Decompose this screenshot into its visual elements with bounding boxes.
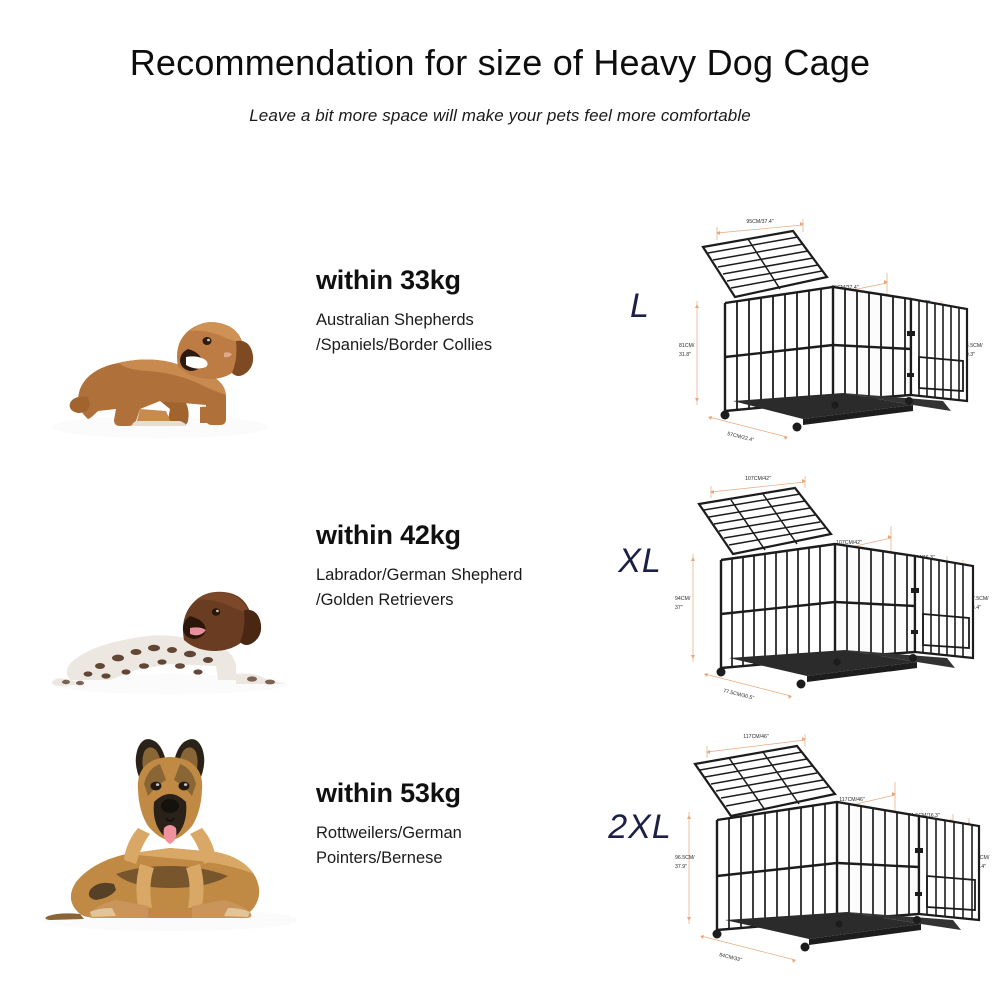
size-text-cell: within 53kg Rottweilers/German Pointers/… <box>316 778 586 871</box>
dim-width-bottom: 57CM/22.4" <box>727 431 755 443</box>
cage-body <box>725 287 911 411</box>
weight-label: within 53kg <box>316 778 586 809</box>
dim-height-left: 96.5CM/ <box>675 855 695 861</box>
dog-photo-cell <box>20 700 320 950</box>
breed-line: /Golden Retrievers <box>316 588 586 613</box>
cage-body <box>721 544 915 668</box>
dim-height-left-inch: 37" <box>675 605 683 611</box>
breed-list: Labrador/German Shepherd /Golden Retriev… <box>316 563 586 613</box>
dim-lid-width: 107CM/42" <box>745 476 771 482</box>
size-row: within 53kg Rottweilers/German Pointers/… <box>0 700 1000 950</box>
dog-photo-cell <box>40 215 320 465</box>
weight-label: within 33kg <box>316 265 586 296</box>
dim-height-left-inch: 37.9" <box>675 864 687 870</box>
cage-diagram-cell: 95CM/37.4" 95CM/37.4" 41.5CM/16.3" 81CM/… <box>675 205 995 460</box>
size-row: within 42kg Labrador/German Shepherd /Go… <box>0 470 1000 720</box>
header: Recommendation for size of Heavy Dog Cag… <box>0 0 1000 126</box>
size-row: within 33kg Australian Shepherds /Spanie… <box>0 215 1000 465</box>
breed-list: Australian Shepherds /Spaniels/Border Co… <box>316 308 586 358</box>
dog-lying-german-shepherd-icon <box>20 724 320 944</box>
cage-door-open <box>907 299 967 401</box>
dim-lid-width: 117CM/46" <box>743 734 769 740</box>
page-subtitle: Leave a bit more space will make your pe… <box>0 106 1000 126</box>
dim-height-left: 94CM/ <box>675 596 691 602</box>
breed-line: Labrador/German Shepherd <box>316 563 586 588</box>
size-code: L <box>630 287 650 325</box>
heavy-duty-dog-cage-icon: 117CM/46" 117CM/46" 41.5CM/16.3" 96.5CM/… <box>675 720 995 975</box>
breed-list: Rottweilers/German Pointers/Bernese <box>316 821 586 871</box>
size-code: 2XL <box>608 808 672 846</box>
dog-lying-redbone-coonhound-icon <box>40 279 310 459</box>
size-code: XL <box>618 542 662 580</box>
dim-height-left: 81CM/ <box>679 343 695 349</box>
breed-line: Australian Shepherds <box>316 308 586 333</box>
size-text-cell: within 33kg Australian Shepherds /Spanie… <box>316 265 586 358</box>
cage-lid <box>703 231 827 297</box>
cage-diagram-cell: 107CM/42" 107CM/42" 41.5CM/16.3" 94CM/ 3… <box>675 460 995 715</box>
cage-lid <box>699 488 831 554</box>
dim-width-bottom: 84CM/33" <box>719 952 743 963</box>
size-text-cell: within 42kg Labrador/German Shepherd /Go… <box>316 520 586 613</box>
dim-lid-width: 95CM/37.4" <box>746 219 773 225</box>
heavy-duty-dog-cage-icon: 95CM/37.4" 95CM/37.4" 41.5CM/16.3" 81CM/… <box>675 205 995 460</box>
dog-lying-german-shorthaired-pointer-icon <box>40 534 310 714</box>
infographic-page: Recommendation for size of Heavy Dog Cag… <box>0 0 1000 1000</box>
dog-photo-cell <box>40 470 320 720</box>
cage-door-open <box>911 556 973 658</box>
weight-label: within 42kg <box>316 520 586 551</box>
cage-door-open <box>915 816 979 920</box>
breed-line: Rottweilers/German <box>316 821 586 846</box>
page-title: Recommendation for size of Heavy Dog Cag… <box>0 42 1000 84</box>
heavy-duty-dog-cage-icon: 107CM/42" 107CM/42" 41.5CM/16.3" 94CM/ 3… <box>675 460 995 715</box>
cage-body <box>717 802 919 930</box>
cage-diagram-cell: 117CM/46" 117CM/46" 41.5CM/16.3" 96.5CM/… <box>675 720 995 975</box>
breed-line: /Spaniels/Border Collies <box>316 333 586 358</box>
dim-height-left-inch: 31.8" <box>679 352 691 358</box>
breed-line: Pointers/Bernese <box>316 846 586 871</box>
